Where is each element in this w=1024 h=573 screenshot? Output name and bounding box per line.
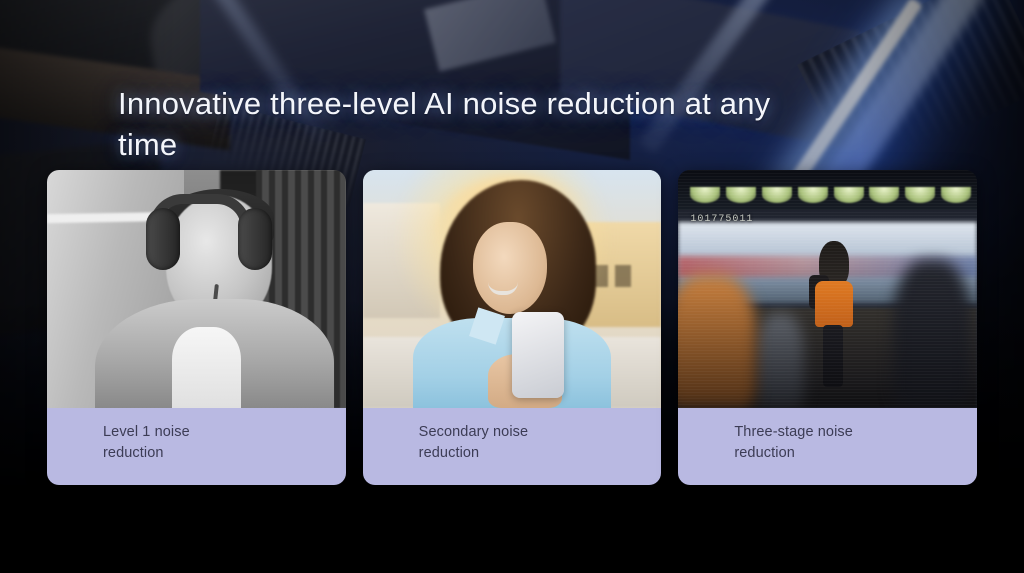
slide-root: Innovative three-level AI noise reductio… — [0, 0, 1024, 573]
card-photo-woman-with-phone — [363, 170, 662, 408]
card-row: Level 1 noise reduction — [47, 170, 977, 485]
noise-reduction-card-1[interactable]: Level 1 noise reduction — [47, 170, 346, 485]
card-caption-3: Three-stage noise reduction — [678, 408, 977, 485]
headphone-earcup-icon — [146, 208, 180, 270]
smartphone-icon — [512, 312, 564, 398]
card-photo-man-with-headphones — [47, 170, 346, 408]
noise-reduction-card-2[interactable]: Secondary noise reduction — [363, 170, 662, 485]
headphone-earcup-icon — [238, 208, 272, 270]
page-title: Innovative three-level AI noise reductio… — [118, 84, 908, 166]
photo-overlay-code: 101775011 — [690, 214, 753, 225]
card-caption-1: Level 1 noise reduction — [47, 408, 346, 485]
card-caption-2: Secondary noise reduction — [363, 408, 662, 485]
card-photo-train-platform: 101775011 — [678, 170, 977, 408]
noise-reduction-card-3[interactable]: 101775011 Three-stage noise reduction — [678, 170, 977, 485]
